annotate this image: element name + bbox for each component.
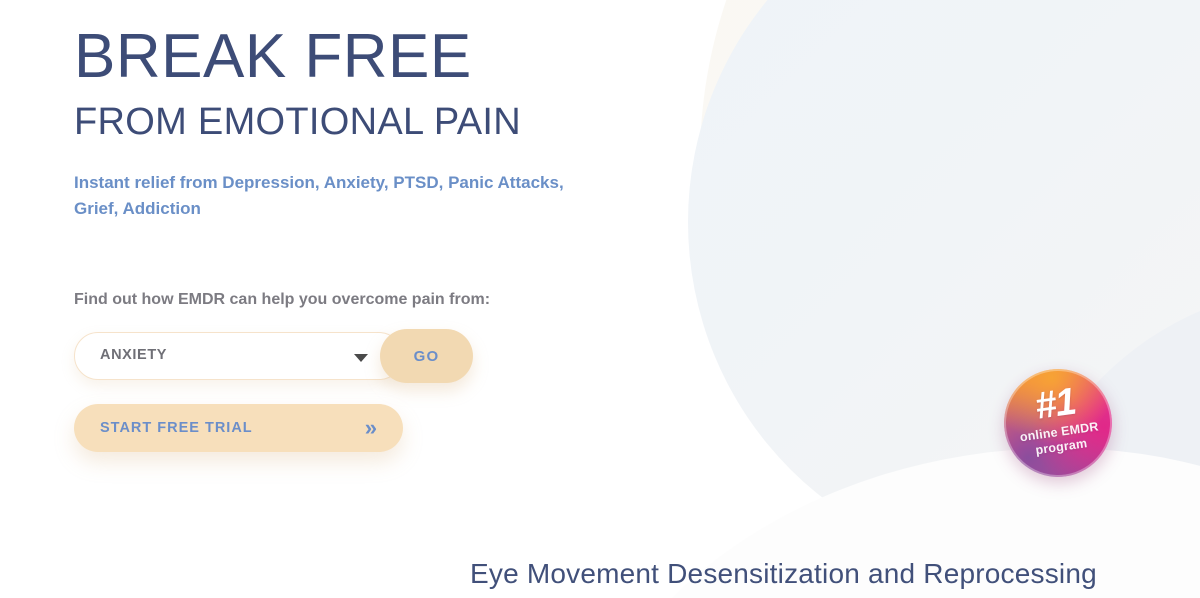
- condition-select[interactable]: ANXIETY: [74, 332, 403, 380]
- double-chevron-right-icon: »: [365, 417, 377, 439]
- hero-tagline: Instant relief from Depression, Anxiety,…: [74, 170, 574, 222]
- chevron-down-icon: [354, 354, 368, 362]
- start-free-trial-label: START FREE TRIAL: [100, 420, 253, 436]
- go-button[interactable]: GO: [380, 329, 473, 383]
- hero-content: BREAK FREE FROM EMOTIONAL PAIN Instant r…: [0, 0, 1200, 598]
- emdr-acronym-tagline: Eye Movement Desensitization and Reproce…: [470, 558, 1097, 590]
- start-free-trial-button[interactable]: START FREE TRIAL »: [74, 404, 403, 452]
- condition-search-row: ANXIETY GO: [74, 332, 403, 380]
- hero-headline: BREAK FREE: [74, 24, 472, 90]
- condition-select-value: ANXIETY: [100, 347, 167, 363]
- hero-section: BREAK FREE FROM EMOTIONAL PAIN Instant r…: [0, 0, 1200, 598]
- number-one-badge: #1 online EMDR program: [997, 362, 1119, 484]
- form-prompt-label: Find out how EMDR can help you overcome …: [74, 291, 490, 309]
- hero-subheadline: FROM EMOTIONAL PAIN: [74, 100, 521, 144]
